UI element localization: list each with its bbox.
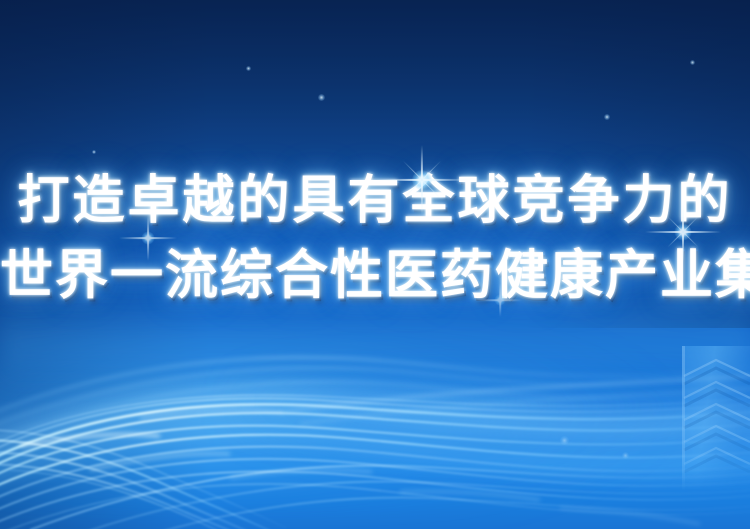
headline-block: 打造卓越的具有全球竞争力的 世界一流综合性医药健康产业集团: [0, 168, 750, 310]
wave-crest-glow: [0, 328, 750, 518]
wave-crest-glow-right: [225, 360, 750, 476]
dust-mote: [690, 60, 695, 65]
left-vignette: [0, 0, 210, 529]
banner-hero: 打造卓越的具有全球竞争力的 世界一流综合性医药健康产业集团: [0, 0, 750, 529]
top-vignette: [0, 0, 750, 238]
headline-line-1: 打造卓越的具有全球竞争力的: [0, 168, 750, 234]
right-vignette: [525, 0, 750, 328]
headline-line-2: 世界一流综合性医药健康产业集团: [0, 240, 750, 310]
dust-mote: [318, 94, 325, 101]
dust-mote: [560, 436, 569, 445]
dust-mote: [622, 452, 629, 459]
dust-mote: [246, 66, 251, 71]
chevron-tower-icon: [678, 346, 750, 491]
wave-streaks-icon: [0, 0, 750, 529]
mid-haze-band: [0, 296, 750, 391]
dust-mote: [604, 114, 610, 120]
dust-mote: [92, 150, 96, 154]
